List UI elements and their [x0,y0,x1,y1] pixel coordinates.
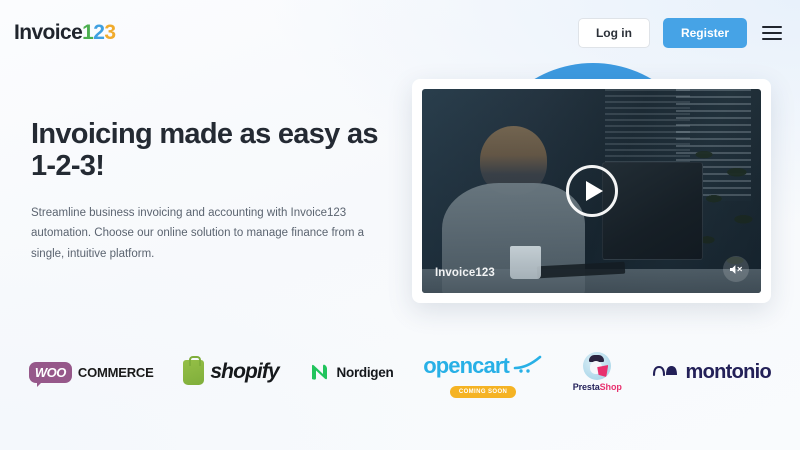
hero-subtext: Streamline business invoicing and accoun… [31,203,373,264]
opencart-swoosh-icon [513,354,543,379]
hero-media: Invoice123 [396,58,786,323]
video-player[interactable]: Invoice123 [422,89,761,293]
partner-shopify[interactable]: shopify [183,352,278,398]
hamburger-bar [762,32,782,34]
play-icon[interactable] [566,165,618,217]
partner-woocommerce[interactable]: WOO COMMERCE [29,352,154,398]
prestashop-label: PrestaShop [573,382,622,392]
partner-logos: WOO COMMERCE shopify Nordigen o [0,352,800,422]
partner-nordigen[interactable]: Nordigen [309,352,394,398]
page-title: Invoicing made as easy as 1-2-3! [31,118,386,183]
prestashop-label-part-2: Shop [600,382,622,392]
brand-logo-word: Invoice [14,21,82,45]
landing-page: Invoice123 Log in Register Invoicing mad… [0,0,800,450]
nordigen-label: Nordigen [337,365,394,380]
video-scene-mug [510,246,541,279]
prestashop-label-part-1: Presta [573,382,600,392]
shopify-bag-icon [183,360,204,385]
partner-opencart[interactable]: opencart COMING SOON [423,352,543,398]
header-actions: Log in Register [578,18,782,48]
brand-logo[interactable]: Invoice123 [14,21,115,45]
video-scene-monitor [602,162,704,260]
brand-logo-digit-3: 3 [104,21,115,45]
prestashop-icon [583,352,611,380]
video-player-frame: Invoice123 [412,79,771,303]
woocommerce-label: COMMERCE [78,365,154,380]
hamburger-menu-icon[interactable] [762,26,782,41]
hamburger-bar [762,26,782,28]
login-button[interactable]: Log in [578,18,650,48]
video-watermark: Invoice123 [435,267,495,279]
opencart-label: opencart [423,353,509,379]
site-header: Invoice123 Log in Register [0,0,800,66]
hamburger-bar [762,38,782,40]
register-button[interactable]: Register [663,18,747,48]
nordigen-icon [309,361,331,383]
brand-logo-digit-1: 1 [82,21,93,45]
partner-montonio[interactable]: montonio [652,352,771,398]
play-triangle [586,181,603,201]
montonio-icon [652,362,680,383]
mute-glyph [729,263,744,276]
montonio-label: montonio [686,361,771,384]
hero-copy: Invoicing made as easy as 1-2-3! Streaml… [31,118,391,264]
mute-speaker-icon[interactable] [723,256,749,282]
brand-logo-digit-2: 2 [93,21,104,45]
partner-prestashop[interactable]: PrestaShop [573,352,622,398]
shopify-label: shopify [210,360,278,384]
woocommerce-icon: WOO [29,362,72,383]
coming-soon-badge: COMING SOON [450,386,516,398]
